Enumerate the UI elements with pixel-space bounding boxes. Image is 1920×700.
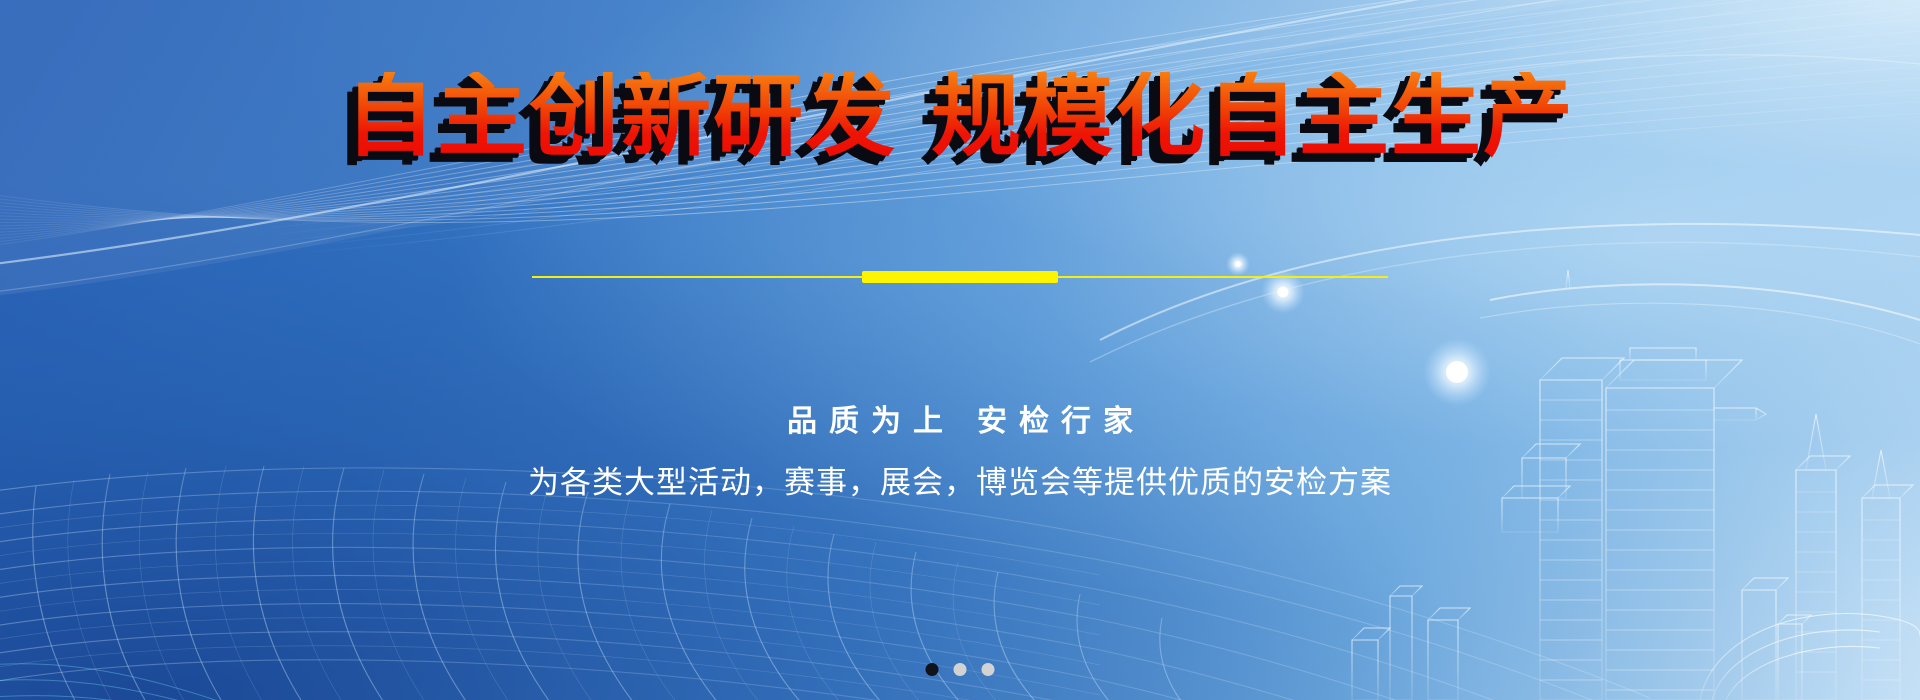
carousel-dot-2[interactable] <box>954 663 967 676</box>
subtitle-secondary: 为各类大型活动，赛事，展会，博览会等提供优质的安检方案 <box>0 457 1920 502</box>
banner-headline-part-2: 规模化自主生产 <box>931 72 1575 162</box>
subtitle-primary-part-1: 品质为上 <box>787 404 955 439</box>
hero-banner: 自主创新研发规模化自主生产 品质为上安检行家 为各类大型活动，赛事，展会，博览会… <box>0 0 1920 700</box>
banner-headline-part-1: 自主创新研发 <box>345 72 897 162</box>
carousel-dots[interactable] <box>926 663 995 676</box>
subtitle-primary: 品质为上安检行家 <box>0 396 1920 440</box>
subtitle-primary-part-2: 安检行家 <box>977 404 1145 439</box>
yellow-divider <box>532 270 1388 284</box>
carousel-dot-3[interactable] <box>982 663 995 676</box>
divider-center-bar <box>862 271 1058 283</box>
carousel-dot-1[interactable] <box>926 663 939 676</box>
headline-container: 自主创新研发规模化自主生产 <box>0 72 1920 162</box>
